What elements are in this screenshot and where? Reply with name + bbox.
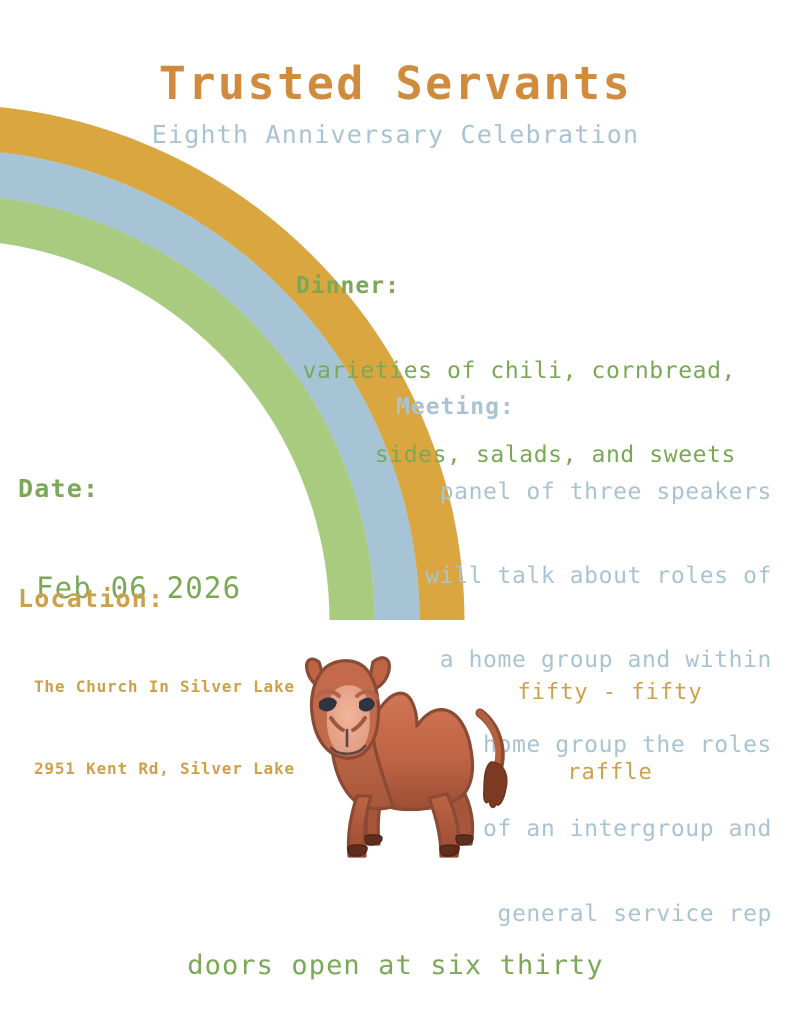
flyer-canvas: Trusted Servants Eighth Anniversary Cele… <box>0 0 791 1024</box>
meeting-line: panel of three speakers <box>396 479 772 506</box>
meeting-line: will talk about roles of <box>396 563 772 590</box>
location-heading: Location: <box>18 584 348 614</box>
page-subtitle: Eighth Anniversary Celebration <box>0 120 791 150</box>
date-heading: Date: <box>18 474 318 504</box>
dinner-heading: Dinner: <box>296 273 736 300</box>
camel-illustration <box>275 638 540 873</box>
page-title: Trusted Servants <box>0 57 791 110</box>
schedule-line: doors open at six thirty <box>0 950 791 982</box>
schedule-section: doors open at six thirty dinner at seven… <box>0 880 791 1024</box>
meeting-heading: Meeting: <box>396 394 772 421</box>
